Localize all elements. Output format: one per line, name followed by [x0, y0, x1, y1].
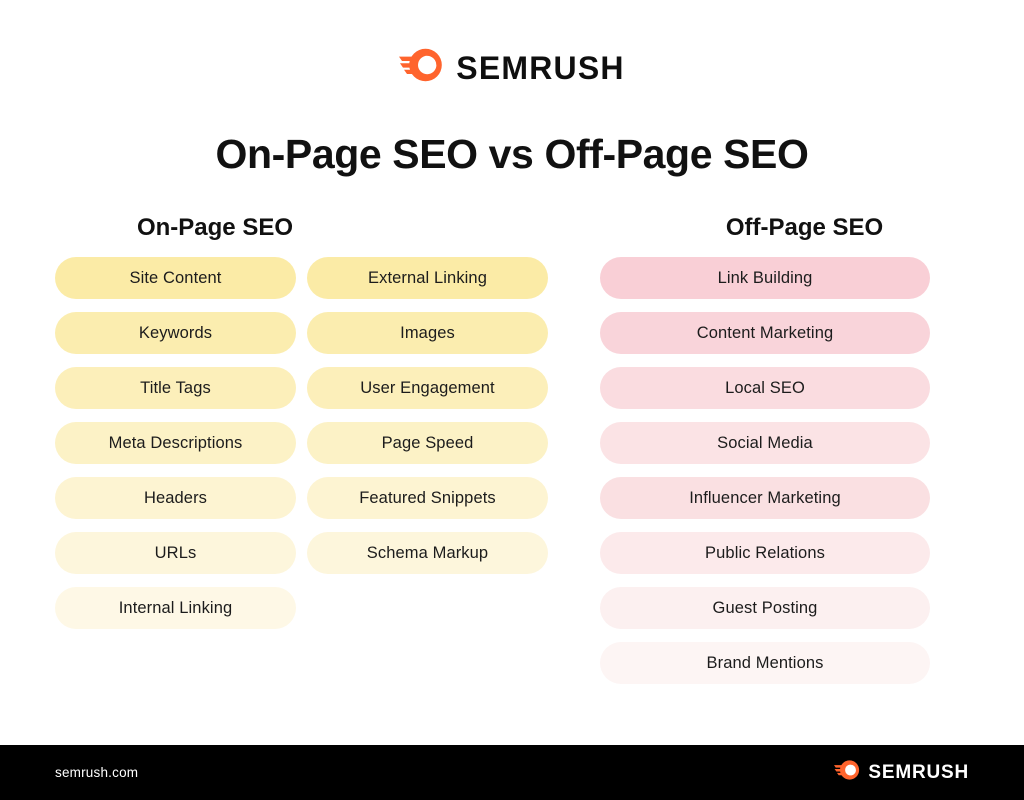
content-area: On-Page SEO Off-Page SEO Site ContentKey…: [0, 214, 1024, 684]
off-page-pill-label: Public Relations: [705, 544, 825, 563]
section-headings-row: On-Page SEO Off-Page SEO: [55, 214, 969, 242]
on-page-pill-label: Meta Descriptions: [109, 434, 243, 453]
on-page-pill-label: Featured Snippets: [359, 489, 496, 508]
brand-wordmark: SEMRUSH: [456, 52, 624, 84]
footer-url: semrush.com: [55, 765, 138, 780]
on-page-pill[interactable]: Keywords: [55, 312, 296, 354]
off-page-pill-label: Link Building: [718, 269, 813, 288]
off-page-pill[interactable]: Public Relations: [600, 532, 930, 574]
brand-header: SEMRUSH: [0, 0, 1024, 87]
on-page-pill[interactable]: Page Speed: [307, 422, 548, 464]
off-page-pill-label: Local SEO: [725, 379, 805, 398]
off-page-column: Link BuildingContent MarketingLocal SEOS…: [600, 257, 930, 684]
on-page-pill[interactable]: Meta Descriptions: [55, 422, 296, 464]
section-heading-off-page: Off-Page SEO: [640, 214, 969, 242]
off-page-pill[interactable]: Influencer Marketing: [600, 477, 930, 519]
on-page-pill[interactable]: Site Content: [55, 257, 296, 299]
on-page-pill-label: Title Tags: [140, 379, 211, 398]
semrush-logo-lockup: SEMRUSH: [399, 48, 624, 87]
on-page-column-a: Site ContentKeywordsTitle TagsMeta Descr…: [55, 257, 296, 629]
on-page-column-b: External LinkingImagesUser EngagementPag…: [307, 257, 548, 574]
off-page-pill[interactable]: Content Marketing: [600, 312, 930, 354]
on-page-pill[interactable]: URLs: [55, 532, 296, 574]
off-page-pill-label: Brand Mentions: [707, 654, 824, 673]
on-page-pill[interactable]: Images: [307, 312, 548, 354]
semrush-comet-logo-icon: [399, 48, 445, 87]
off-page-pill[interactable]: Guest Posting: [600, 587, 930, 629]
on-page-pill-label: Keywords: [139, 324, 212, 343]
on-page-pill-label: Headers: [144, 489, 207, 508]
off-page-pill[interactable]: Social Media: [600, 422, 930, 464]
on-page-pill[interactable]: Title Tags: [55, 367, 296, 409]
off-page-pill-label: Guest Posting: [713, 599, 818, 618]
footer-logo-lockup: SEMRUSH: [834, 760, 969, 785]
pill-columns: Site ContentKeywordsTitle TagsMeta Descr…: [55, 257, 969, 684]
off-page-pill-label: Social Media: [717, 434, 813, 453]
off-page-pill[interactable]: Brand Mentions: [600, 642, 930, 684]
on-page-pill[interactable]: User Engagement: [307, 367, 548, 409]
off-page-pill[interactable]: Local SEO: [600, 367, 930, 409]
footer-bar: semrush.com SEMRUSH: [0, 745, 1024, 800]
off-page-pill-label: Content Marketing: [697, 324, 834, 343]
on-page-pill[interactable]: External Linking: [307, 257, 548, 299]
on-page-pill-label: User Engagement: [360, 379, 495, 398]
on-page-pill-label: URLs: [155, 544, 197, 563]
on-page-pill-label: Page Speed: [382, 434, 474, 453]
on-page-pill-label: External Linking: [368, 269, 487, 288]
on-page-pill[interactable]: Schema Markup: [307, 532, 548, 574]
footer-wordmark: SEMRUSH: [868, 763, 969, 782]
off-page-pill-label: Influencer Marketing: [689, 489, 841, 508]
on-page-pill-label: Images: [400, 324, 455, 343]
off-page-pill[interactable]: Link Building: [600, 257, 930, 299]
section-heading-on-page: On-Page SEO: [55, 214, 640, 242]
on-page-pill[interactable]: Featured Snippets: [307, 477, 548, 519]
on-page-pill[interactable]: Internal Linking: [55, 587, 296, 629]
on-page-pill-label: Internal Linking: [119, 599, 233, 618]
page-title: On-Page SEO vs Off-Page SEO: [0, 131, 1024, 178]
on-page-pill-label: Schema Markup: [367, 544, 488, 563]
on-page-pill-label: Site Content: [129, 269, 221, 288]
semrush-comet-logo-icon: [834, 760, 861, 785]
on-page-pill[interactable]: Headers: [55, 477, 296, 519]
